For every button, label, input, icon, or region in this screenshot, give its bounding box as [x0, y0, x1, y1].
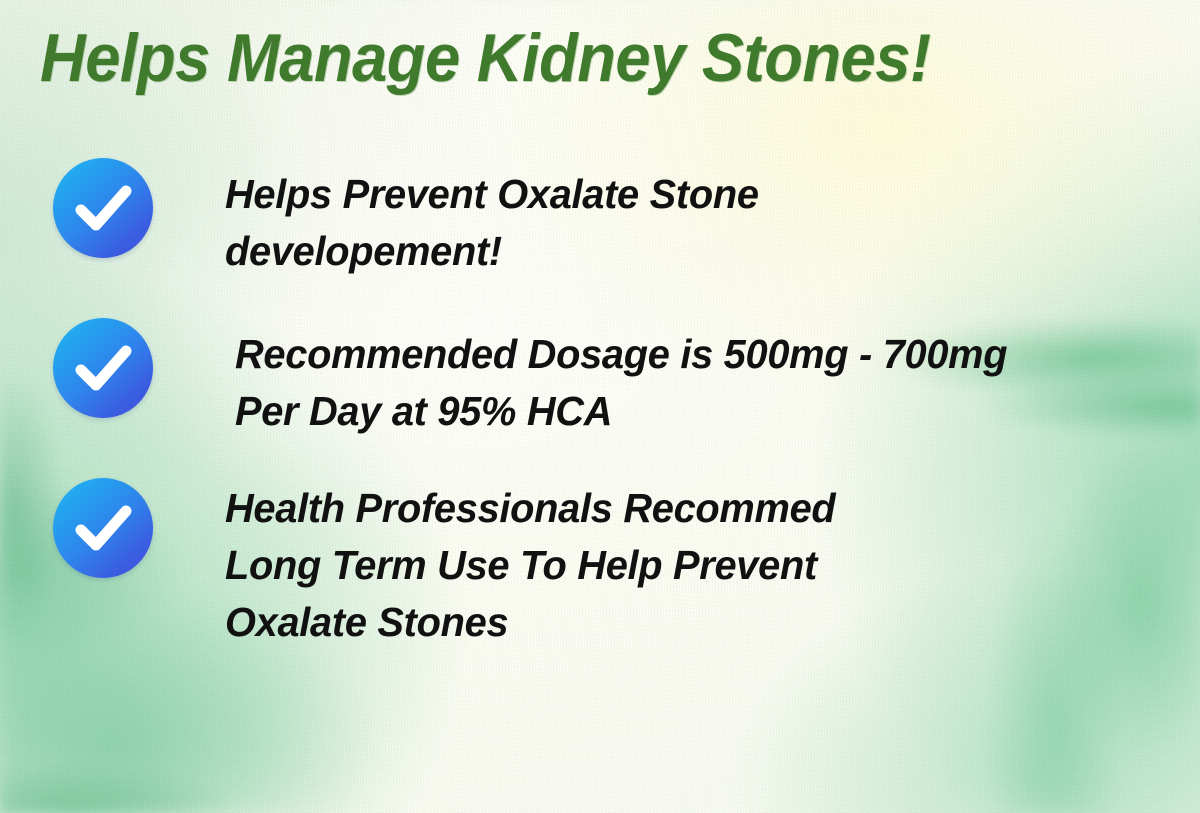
- kidney-stones-slide: Helps Manage Kidney Stones! Helps Preven…: [0, 0, 1200, 813]
- list-item-label: Health Professionals Recommed Long Term …: [225, 480, 1171, 651]
- check-circle-icon: [53, 478, 153, 578]
- list-item: Health Professionals Recommed Long Term …: [0, 466, 1200, 651]
- check-circle-icon: [53, 318, 153, 418]
- list-item-label: Helps Prevent Oxalate Stone developement…: [225, 166, 1171, 280]
- list-item: Recommended Dosage is 500mg - 700mg Per …: [0, 306, 1200, 440]
- list-item-label: Recommended Dosage is 500mg - 700mg Per …: [235, 326, 1171, 440]
- page-title: Helps Manage Kidney Stones!: [40, 24, 1082, 92]
- list-item: Helps Prevent Oxalate Stone developement…: [0, 146, 1200, 280]
- slide-content: Helps Manage Kidney Stones! Helps Preven…: [0, 0, 1200, 813]
- check-circle-icon: [53, 158, 153, 258]
